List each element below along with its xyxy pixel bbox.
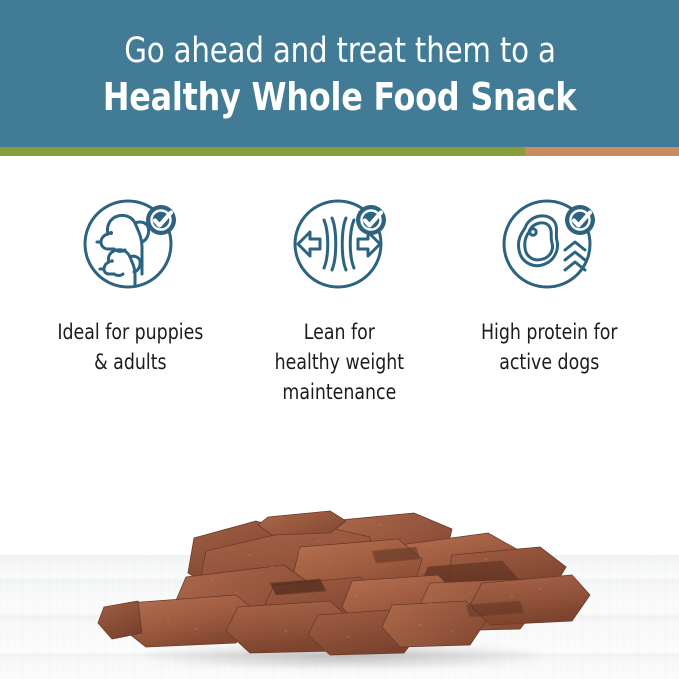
accent-stripe-green <box>0 147 525 156</box>
product-photo <box>0 455 679 679</box>
slim-waist-arrows-check-icon <box>288 190 392 294</box>
feature-label: Lean for healthy weight maintenance <box>275 318 404 407</box>
feature-item-puppies-adults: Ideal for puppies & adults <box>30 190 230 407</box>
meat-protein-chevrons-check-icon <box>497 190 601 294</box>
headline-line-2: Healthy Whole Food Snack <box>103 74 577 120</box>
headline-line-1: Go ahead and treat them to a <box>124 31 556 72</box>
feature-label: High protein for active dogs <box>481 318 618 378</box>
product-feature-panel: Go ahead and treat them to a Healthy Who… <box>0 0 679 679</box>
feature-item-high-protein: High protein for active dogs <box>449 190 649 407</box>
two-dogs-check-icon <box>78 190 182 294</box>
feature-list: Ideal for puppies & adults <box>0 190 679 407</box>
feature-item-lean-weight: Lean for healthy weight maintenance <box>240 190 440 407</box>
accent-stripe-orange <box>525 147 679 156</box>
header-banner: Go ahead and treat them to a Healthy Who… <box>0 0 679 147</box>
treat-chips <box>98 511 590 655</box>
treat-pile <box>0 455 679 679</box>
accent-stripe <box>0 147 679 156</box>
feature-label: Ideal for puppies & adults <box>57 318 203 378</box>
